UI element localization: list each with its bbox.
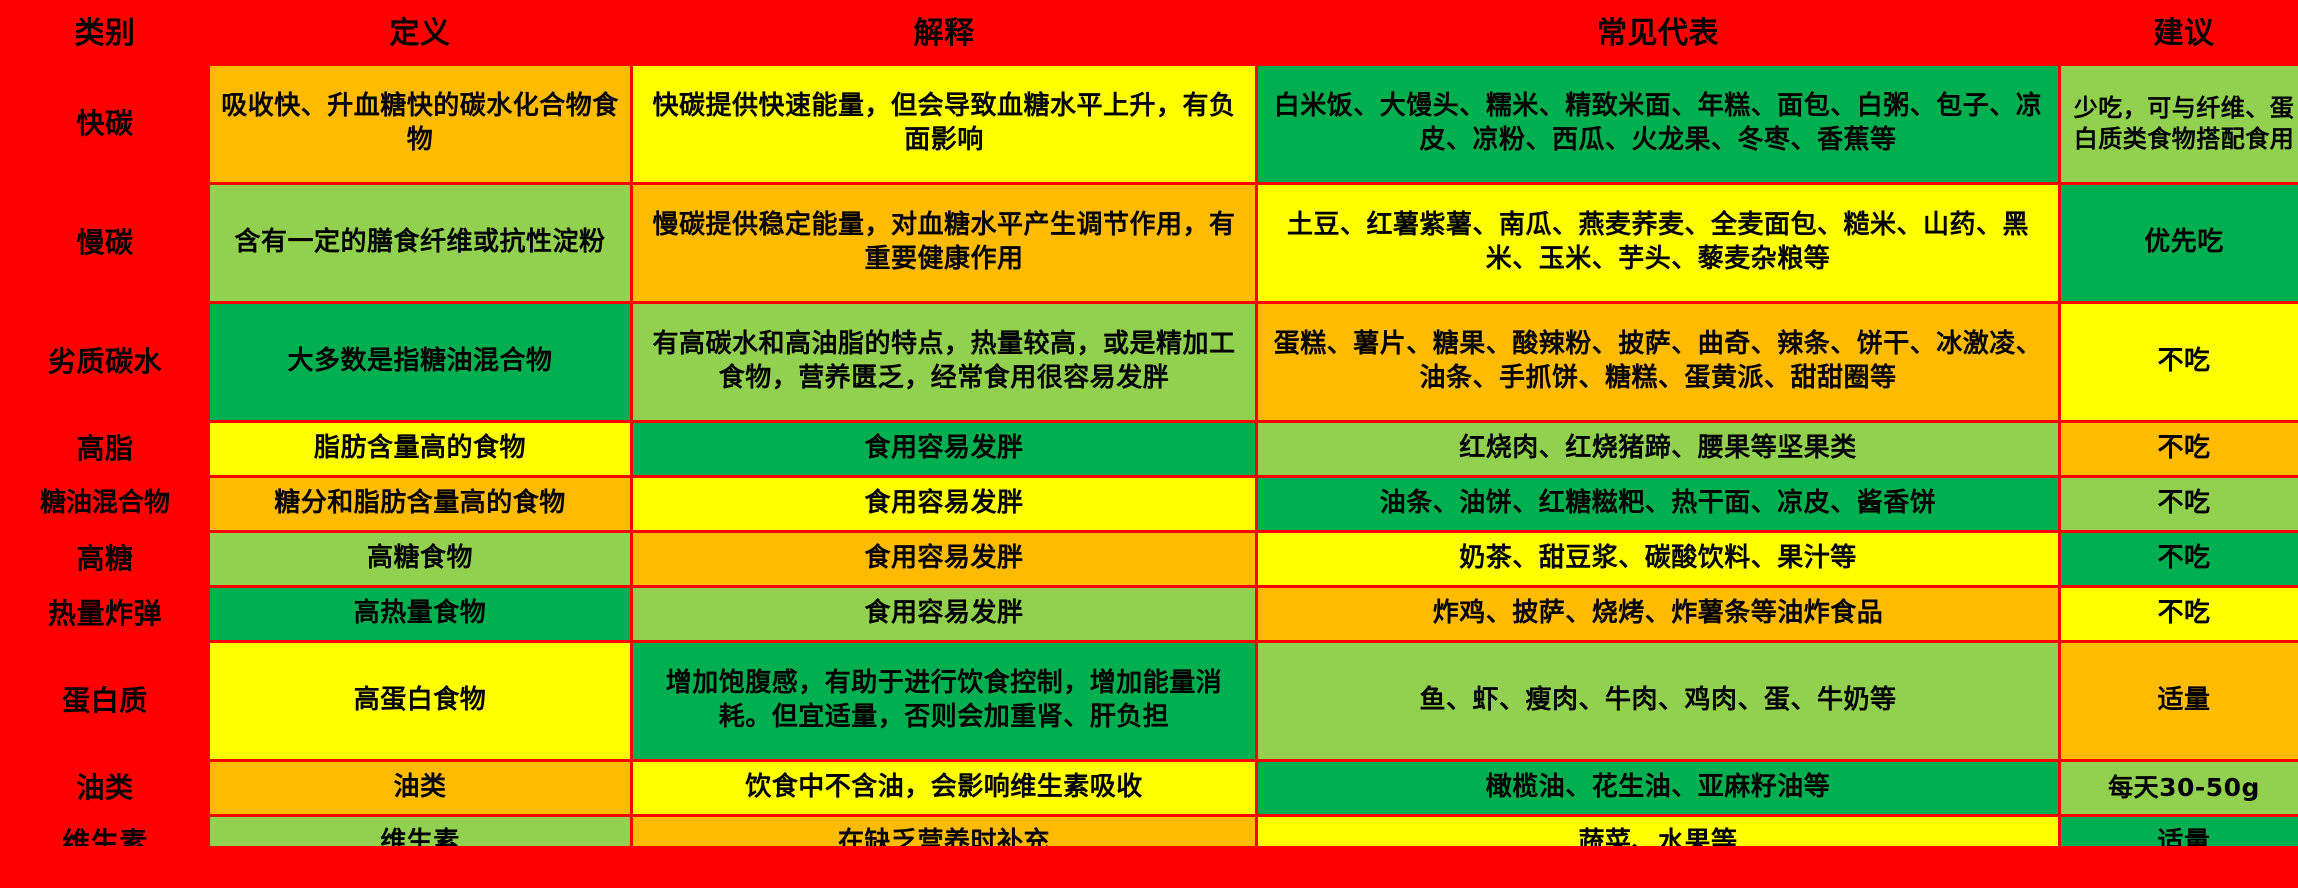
cell-definition: 油类 [210,762,630,814]
cell-advice: 少吃，可与纤维、蛋白质类食物搭配食用 [2061,66,2298,182]
table-row: 快碳 吸收快、升血糖快的碳水化合物食物 快碳提供快速能量，但会导致血糖水平上升，… [3,66,2298,182]
cell-advice: 不吃 [2061,478,2298,530]
cell-advice: 适量 [2061,643,2298,759]
table-row: 油类 油类 饮食中不含油，会影响维生素吸收 橄榄油、花生油、亚麻籽油等 每天30… [3,762,2298,814]
cell-examples: 土豆、红薯紫薯、南瓜、燕麦荞麦、全麦面包、糙米、山药、黑米、玉米、芋头、藜麦杂粮… [1258,185,2058,301]
header-row: 类别 定义 解释 常见代表 建议 [3,3,2298,63]
cell-advice: 不吃 [2061,304,2298,420]
cell-category: 快碳 [3,66,207,182]
table-row: 糖油混合物 糖分和脂肪含量高的食物 食用容易发胖 油条、油饼、红糖糍粑、热干面、… [3,478,2298,530]
header-cell-definition: 定义 [210,3,630,63]
cell-examples: 红烧肉、红烧猪蹄、腰果等坚果类 [1258,423,2058,475]
cell-definition: 含有一定的膳食纤维或抗性淀粉 [210,185,630,301]
cell-definition: 糖分和脂肪含量高的食物 [210,478,630,530]
cell-examples: 鱼、虾、瘦肉、牛肉、鸡肉、蛋、牛奶等 [1258,643,2058,759]
cell-advice: 每天30-50g [2061,762,2298,814]
cell-explanation: 慢碳提供稳定能量，对血糖水平产生调节作用，有重要健康作用 [633,185,1255,301]
cell-definition: 脂肪含量高的食物 [210,423,630,475]
cell-advice: 不吃 [2061,588,2298,640]
bottom-red-band [0,846,2298,888]
cell-explanation: 食用容易发胖 [633,588,1255,640]
table-header: 类别 定义 解释 常见代表 建议 [3,3,2298,63]
cell-examples: 白米饭、大馒头、糯米、精致米面、年糕、面包、白粥、包子、凉皮、凉粉、西瓜、火龙果… [1258,66,2058,182]
table-row: 高糖 高糖食物 食用容易发胖 奶茶、甜豆浆、碳酸饮料、果汁等 不吃 [3,533,2298,585]
cell-category: 慢碳 [3,185,207,301]
cell-examples: 蛋糕、薯片、糖果、酸辣粉、披萨、曲奇、辣条、饼干、冰激凌、油条、手抓饼、糖糕、蛋… [1258,304,2058,420]
table-row: 慢碳 含有一定的膳食纤维或抗性淀粉 慢碳提供稳定能量，对血糖水平产生调节作用，有… [3,185,2298,301]
table-row: 劣质碳水 大多数是指糖油混合物 有高碳水和高油脂的特点，热量较高，或是精加工食物… [3,304,2298,420]
cell-examples: 奶茶、甜豆浆、碳酸饮料、果汁等 [1258,533,2058,585]
cell-category: 油类 [3,762,207,814]
cell-definition: 高糖食物 [210,533,630,585]
header-cell-examples: 常见代表 [1258,3,2058,63]
cell-explanation: 饮食中不含油，会影响维生素吸收 [633,762,1255,814]
cell-advice: 不吃 [2061,423,2298,475]
cell-category: 劣质碳水 [3,304,207,420]
cell-explanation: 食用容易发胖 [633,423,1255,475]
cell-category: 高糖 [3,533,207,585]
food-category-table: 类别 定义 解释 常见代表 建议 快碳 吸收快、升血糖快的碳水化合物食物 快碳提… [0,0,2298,872]
cell-definition: 高蛋白食物 [210,643,630,759]
table-row: 高脂 脂肪含量高的食物 食用容易发胖 红烧肉、红烧猪蹄、腰果等坚果类 不吃 [3,423,2298,475]
cell-explanation: 有高碳水和高油脂的特点，热量较高，或是精加工食物，营养匮乏，经常食用很容易发胖 [633,304,1255,420]
table-row: 热量炸弹 高热量食物 食用容易发胖 炸鸡、披萨、烧烤、炸薯条等油炸食品 不吃 [3,588,2298,640]
cell-explanation: 增加饱腹感，有助于进行饮食控制，增加能量消耗。但宜适量，否则会加重肾、肝负担 [633,643,1255,759]
cell-explanation: 食用容易发胖 [633,533,1255,585]
cell-category: 高脂 [3,423,207,475]
header-cell-explanation: 解释 [633,3,1255,63]
cell-explanation: 快碳提供快速能量，但会导致血糖水平上升，有负面影响 [633,66,1255,182]
header-cell-advice: 建议 [2061,3,2298,63]
cell-definition: 吸收快、升血糖快的碳水化合物食物 [210,66,630,182]
cell-advice: 优先吃 [2061,185,2298,301]
cell-category: 糖油混合物 [3,478,207,530]
cell-definition: 高热量食物 [210,588,630,640]
cell-advice: 不吃 [2061,533,2298,585]
header-cell-category: 类别 [3,3,207,63]
cell-category: 蛋白质 [3,643,207,759]
cell-explanation: 食用容易发胖 [633,478,1255,530]
cell-examples: 油条、油饼、红糖糍粑、热干面、凉皮、酱香饼 [1258,478,2058,530]
cell-category: 热量炸弹 [3,588,207,640]
table-row: 蛋白质 高蛋白食物 增加饱腹感，有助于进行饮食控制，增加能量消耗。但宜适量，否则… [3,643,2298,759]
cell-examples: 炸鸡、披萨、烧烤、炸薯条等油炸食品 [1258,588,2058,640]
table-body: 快碳 吸收快、升血糖快的碳水化合物食物 快碳提供快速能量，但会导致血糖水平上升，… [3,66,2298,869]
cell-definition: 大多数是指糖油混合物 [210,304,630,420]
cell-examples: 橄榄油、花生油、亚麻籽油等 [1258,762,2058,814]
spreadsheet-canvas: 类别 定义 解释 常见代表 建议 快碳 吸收快、升血糖快的碳水化合物食物 快碳提… [0,0,2298,888]
